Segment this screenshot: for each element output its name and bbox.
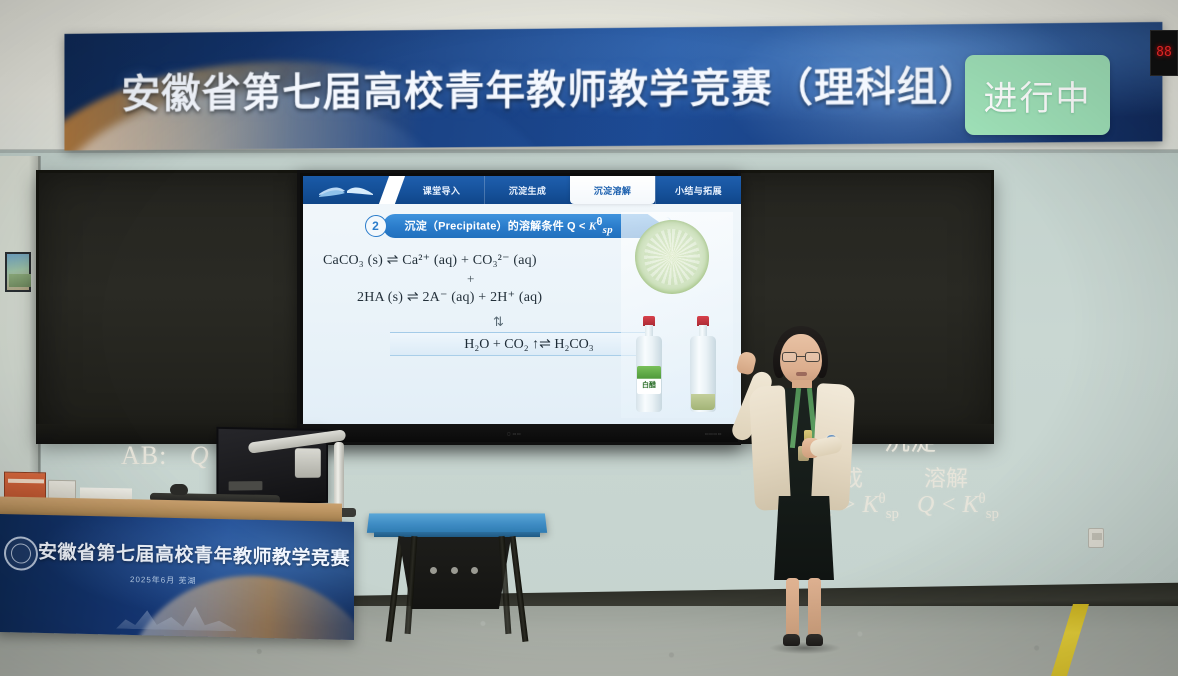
wall-power-outlet[interactable]: [1088, 528, 1104, 548]
teacher-skirt: [774, 496, 834, 580]
slide-tab-formation[interactable]: 沉淀生成: [484, 176, 570, 204]
table-leg-right: [510, 536, 529, 642]
slide-tab-summary[interactable]: 小结与拓展: [655, 176, 741, 204]
status-badge: 进行中: [965, 55, 1110, 135]
slide-heading-number: 2: [365, 215, 387, 237]
slide-nav-bar: 课堂导入 沉淀生成 沉淀溶解 小结与拓展: [303, 176, 741, 204]
teacher-floor-shadow: [770, 642, 840, 654]
slide-tabs: 课堂导入 沉淀生成 沉淀溶解 小结与拓展: [399, 176, 741, 204]
slide-illustration: 白醋: [621, 212, 733, 418]
reaction-bottle-image: [689, 316, 717, 412]
presentation-slide: 课堂导入 沉淀生成 沉淀溶解 小结与拓展 沉淀（Precipitate）的溶解条…: [303, 176, 741, 427]
chalk-label-dissolution: 溶解: [924, 461, 968, 493]
podium-banner: 安徽省第七届高校青年教师教学竞赛 2025年6月 芜湖: [0, 514, 354, 640]
computer-mouse[interactable]: [170, 484, 188, 495]
slide-tab-dissolution[interactable]: 沉淀溶解: [570, 176, 655, 204]
vinegar-bottle-image: 白醋: [635, 316, 663, 412]
framed-landscape-photo: [5, 252, 31, 292]
university-seal-icon: [4, 536, 38, 571]
bottle-sediment: [691, 394, 715, 410]
podium-banner-title: 安徽省第七届高校青年教师教学竞赛: [38, 537, 350, 571]
blue-folding-table[interactable]: [368, 512, 546, 642]
slide-logo: [303, 176, 399, 204]
lime-slice-image: [635, 220, 709, 294]
chalk-formula-dissolution: Q < Kθsp: [917, 491, 999, 523]
bottle-label-left: 白醋: [637, 366, 661, 394]
teacher-jacket-left: [749, 385, 791, 511]
led-clock-value: 88: [1156, 46, 1172, 60]
podium-banner-subtitle: 2025年6月 芜湖: [130, 574, 196, 587]
status-badge-label: 进行中: [984, 71, 1092, 120]
banner-title: 安徽省第七届高校青年教师教学竞赛（理科组）: [121, 53, 980, 119]
teacher-shoe-right: [806, 634, 823, 646]
led-clock-display: 88: [1150, 30, 1178, 76]
bezel-mark-center: ◻ ▭▭: [507, 431, 521, 436]
wall-seam: [0, 149, 1178, 153]
eyeglasses-icon: [782, 352, 820, 362]
classroom-scene: AB: Q = CACB 沉淀 生成 Q > Kθsp 溶解 Q < Kθsp: [0, 0, 1178, 676]
table-panel-fasteners: [430, 567, 478, 574]
table-surface: [367, 513, 547, 532]
teacher-leg-left: [786, 578, 799, 638]
teacher-mouth: [796, 372, 807, 376]
teacher-leg-right: [808, 578, 821, 638]
bezel-mark-right: ▭▭▭▭: [705, 431, 722, 436]
slide-tab-intro[interactable]: 课堂导入: [399, 176, 484, 204]
interactive-smart-screen[interactable]: 课堂导入 沉淀生成 沉淀溶解 小结与拓展 沉淀（Precipitate）的溶解条…: [297, 170, 741, 445]
open-book-icon: [317, 182, 375, 198]
teacher-shoe-left: [783, 634, 800, 646]
screen-bottom-bezel: ◻◻ ◻ ▭▭ ▭▭▭▭: [300, 424, 738, 442]
presenting-teacher: [740, 322, 860, 656]
